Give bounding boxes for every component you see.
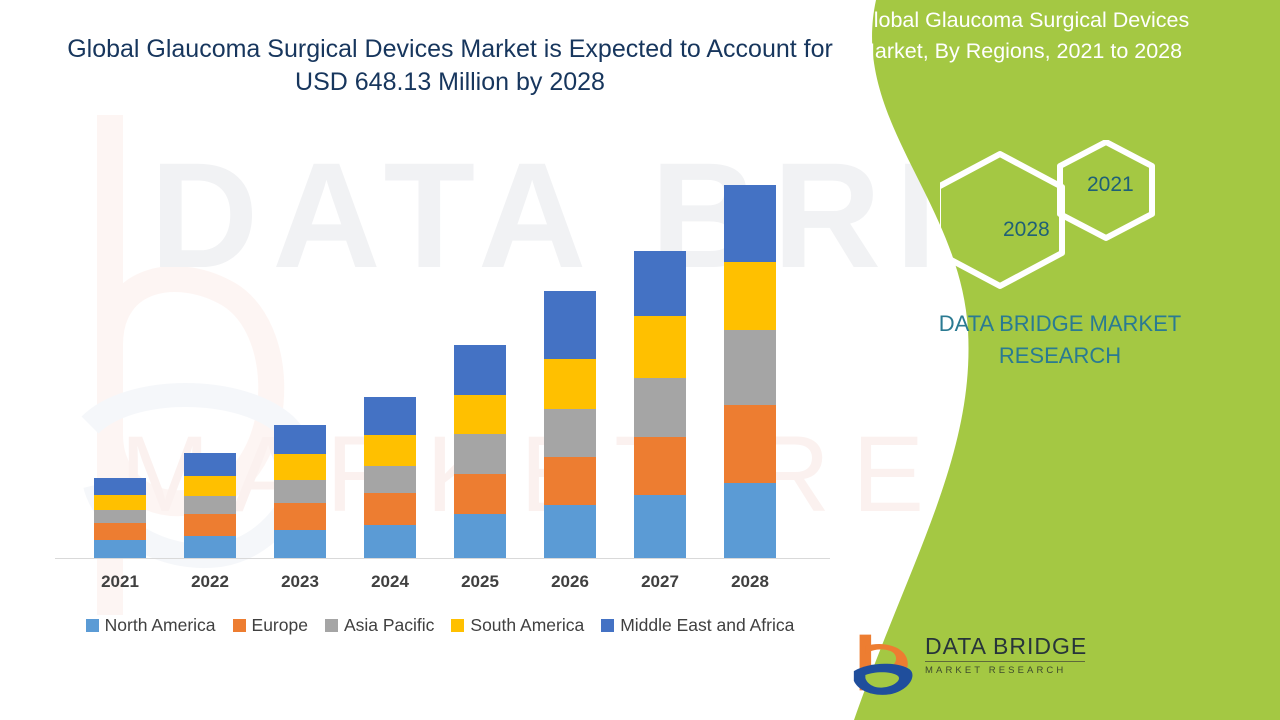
bar-segment: [544, 291, 596, 359]
bar-segment: [94, 495, 146, 510]
brand-name: DATA BRIDGE MARKET RESEARCH: [880, 308, 1240, 373]
logo-main-text: DATA BRIDGE: [925, 633, 1090, 659]
plot-area: [55, 150, 830, 559]
x-tick-2028: 2028: [705, 572, 795, 592]
axis-baseline: [55, 558, 830, 559]
bar-segment: [184, 476, 236, 496]
x-axis-labels: 20212022202320242025202620272028: [55, 572, 830, 602]
legend-item-europe[interactable]: Europe: [233, 615, 308, 636]
hexagon-group: 2021 2028: [940, 140, 1170, 300]
chart-legend: North AmericaEuropeAsia PacificSouth Ame…: [40, 615, 840, 636]
bar-segment: [274, 454, 326, 480]
bar-segment: [634, 378, 686, 437]
x-tick-2027: 2027: [615, 572, 705, 592]
bar-segment: [184, 514, 236, 536]
chart-title: Global Glaucoma Surgical Devices Market …: [60, 33, 840, 100]
logo-mark-icon: [850, 627, 922, 699]
bar-segment: [724, 330, 776, 405]
x-tick-2025: 2025: [435, 572, 525, 592]
bar-segment: [94, 540, 146, 558]
bar-segment: [724, 185, 776, 262]
bar-segment: [724, 405, 776, 483]
bar-segment: [454, 345, 506, 395]
bar-segment: [454, 434, 506, 474]
bar-segment: [544, 505, 596, 558]
legend-label: Middle East and Africa: [620, 615, 794, 636]
legend-item-south-america[interactable]: South America: [451, 615, 584, 636]
legend-swatch-icon: [601, 619, 614, 632]
bar-segment: [184, 453, 236, 476]
hexagon-label-2028: 2028: [1003, 218, 1050, 242]
legend-item-asia-pacific[interactable]: Asia Pacific: [325, 615, 434, 636]
logo-wordmark: DATA BRIDGE MARKET RESEARCH: [925, 633, 1090, 676]
legend-label: North America: [105, 615, 216, 636]
bar-segment: [94, 510, 146, 523]
bar-2021[interactable]: [94, 478, 146, 558]
x-tick-2023: 2023: [255, 572, 345, 592]
legend-item-north-america[interactable]: North America: [86, 615, 216, 636]
bar-segment: [184, 536, 236, 558]
x-tick-2024: 2024: [345, 572, 435, 592]
logo-divider: [925, 661, 1085, 662]
legend-swatch-icon: [86, 619, 99, 632]
bar-segment: [724, 483, 776, 558]
x-tick-2022: 2022: [165, 572, 255, 592]
bar-segment: [634, 316, 686, 378]
bar-segment: [364, 397, 416, 435]
bar-segment: [364, 435, 416, 466]
bar-segment: [634, 495, 686, 558]
logo-sub-text: MARKET RESEARCH: [925, 665, 1090, 676]
bar-segment: [544, 457, 596, 505]
company-logo: DATA BRIDGE MARKET RESEARCH: [850, 625, 1090, 705]
legend-label: South America: [470, 615, 584, 636]
bar-segment: [454, 395, 506, 434]
bar-segment: [544, 359, 596, 409]
bar-segment: [94, 523, 146, 540]
panel-title: Global Glaucoma Surgical Devices Market,…: [857, 5, 1257, 66]
bar-segment: [94, 478, 146, 495]
legend-swatch-icon: [233, 619, 246, 632]
bar-segment: [274, 425, 326, 454]
bar-segment: [454, 514, 506, 558]
bar-2028[interactable]: [724, 185, 776, 558]
legend-item-middle-east-and-africa[interactable]: Middle East and Africa: [601, 615, 794, 636]
hexagons-icon: [940, 140, 1170, 300]
chart-canvas: DATA BRIDGE MARKET RESEARCH Global Glauc…: [0, 0, 1280, 720]
bar-segment: [184, 496, 236, 514]
bar-2027[interactable]: [634, 251, 686, 558]
bar-segment: [724, 262, 776, 330]
bar-segment: [364, 466, 416, 493]
bar-segment: [454, 474, 506, 514]
x-tick-2021: 2021: [75, 572, 165, 592]
branding-panel: Global Glaucoma Surgical Devices Market,…: [840, 0, 1280, 720]
legend-swatch-icon: [451, 619, 464, 632]
bar-2024[interactable]: [364, 397, 416, 558]
hexagon-label-2021: 2021: [1087, 173, 1134, 197]
bar-segment: [364, 525, 416, 558]
x-tick-2026: 2026: [525, 572, 615, 592]
legend-swatch-icon: [325, 619, 338, 632]
bar-segment: [274, 480, 326, 503]
legend-label: Europe: [252, 615, 308, 636]
bar-segment: [274, 503, 326, 530]
bar-segment: [544, 409, 596, 457]
bar-2025[interactable]: [454, 345, 506, 558]
bar-2026[interactable]: [544, 291, 596, 558]
legend-label: Asia Pacific: [344, 615, 434, 636]
bar-segment: [634, 251, 686, 316]
bar-segment: [274, 530, 326, 558]
bar-2023[interactable]: [274, 425, 326, 558]
bar-segment: [634, 437, 686, 495]
bar-2022[interactable]: [184, 453, 236, 558]
bar-segment: [364, 493, 416, 525]
